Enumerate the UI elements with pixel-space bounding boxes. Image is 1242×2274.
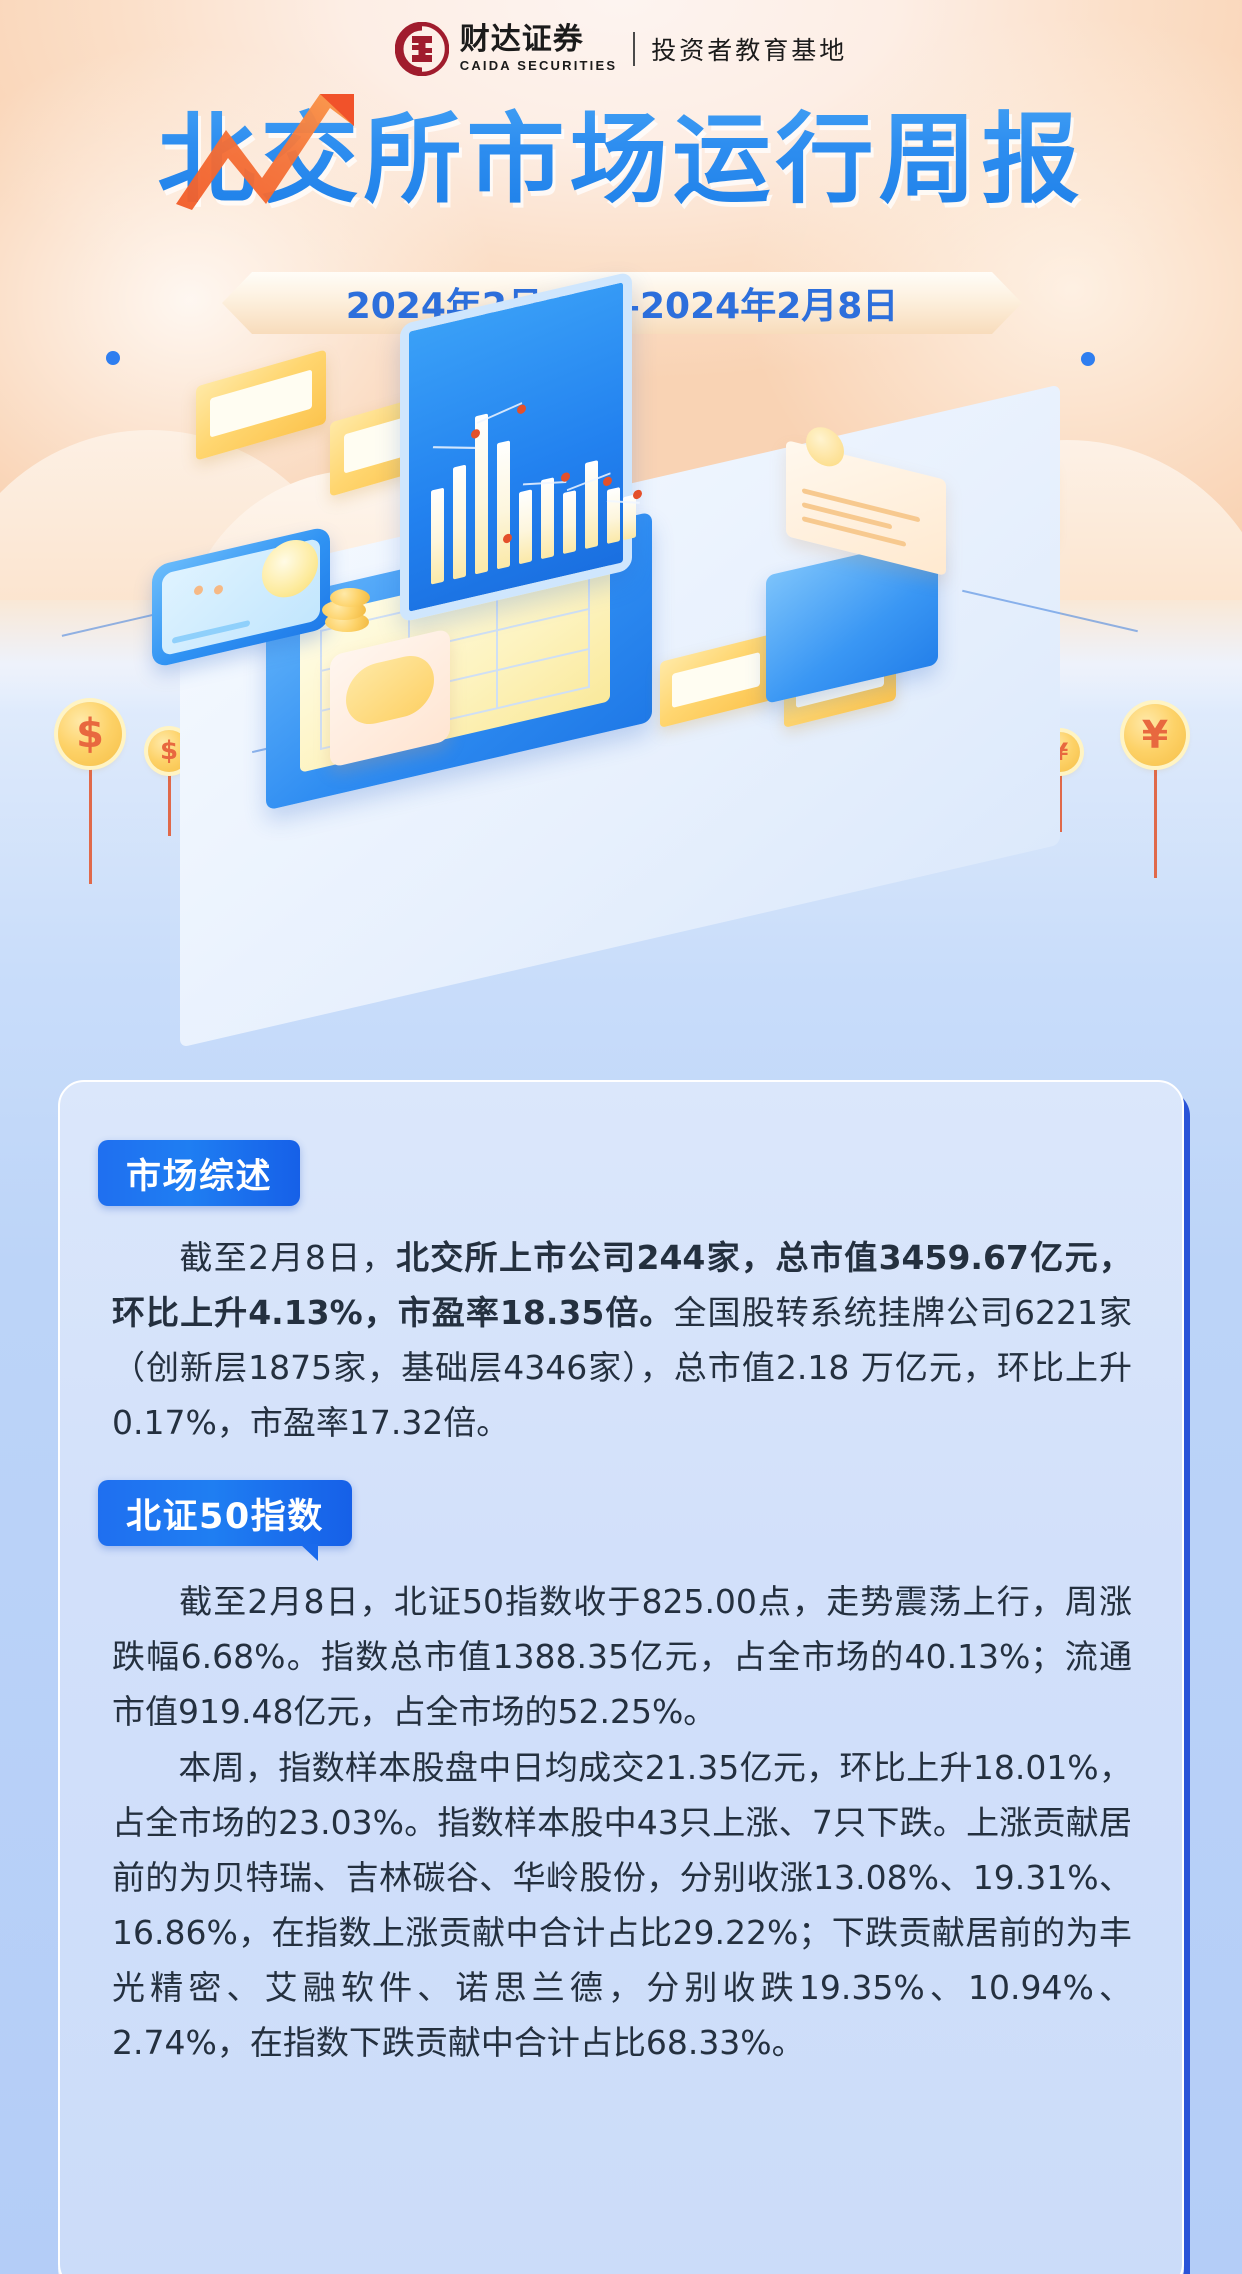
brand-text-block: 财达证券 CAIDA SECURITIES [460,24,618,74]
coin-stem [1154,766,1157,878]
paragraph-bse50-overview: 截至2月8日，北证50指数收于825.00点，走势震荡上行，周涨跌幅6.68%。… [112,1574,1132,1739]
page-title: 北交所市场运行周报 [157,80,1084,222]
chart-bar [497,440,510,569]
chart-point [603,476,612,487]
report-page: 财达证券 CAIDA SECURITIES 投资者教育基地 北交所市场运行周报 … [0,0,1242,2274]
brand-name-cn: 财达证券 [460,24,584,56]
hero-illustration: $ $ ¥ ¥ [0,360,1242,1050]
chart-point [517,404,526,415]
brand-subtitle: 投资者教育基地 [651,31,847,67]
chart-bar [431,488,444,585]
chart-line-segment [433,446,476,449]
main-title-wrap: 北交所市场运行周报 [0,96,1242,206]
content-card: 市场综述 截至2月8日，北交所上市公司244家，总市值3459.67亿元，环比上… [58,1080,1184,2274]
paragraph-market-overview: 截至2月8日，北交所上市公司244家，总市值3459.67亿元，环比上升4.13… [112,1230,1132,1450]
section-badge-market-overview: 市场综述 [98,1140,300,1206]
yuan-coin-icon: ¥ [1124,704,1186,766]
coin-stem [89,766,92,884]
chart-bar [519,489,532,564]
body-text: 截至2月8日， [178,1238,396,1277]
chart-bar [453,465,466,580]
body-text: 本周，指数样本股盘中日均成交21.35亿元，环比上升18.01%，占全市场的23… [112,1748,1132,2062]
dollar-coin-icon: $ [58,702,122,766]
chart-bar [563,490,576,554]
screen-chart [427,364,609,586]
chart-bar [607,487,620,544]
badge-label: 北证50指数 [126,1488,324,1539]
section-badge-bse50-index: 北证50指数 [98,1480,352,1546]
body-text: 截至2月8日，北证50指数收于825.00点，走势震荡上行，周涨跌幅6.68%。… [112,1582,1132,1731]
chart-point [561,472,570,483]
chart-line-segment [477,402,522,424]
caida-circle-logo-icon [395,22,449,76]
badge-label: 市场综述 [126,1148,272,1199]
chart-bar [585,460,598,549]
coin-stem [168,772,171,836]
laptop-screen-chart [400,271,632,623]
gold-card [196,349,326,460]
brand-name-en: CAIDA SECURITIES [460,58,618,74]
paragraph-bse50-weekly: 本周，指数样本股盘中日均成交21.35亿元，环比上升18.01%，占全市场的23… [112,1740,1132,2070]
coin-stack [330,588,370,607]
brand-divider [633,32,635,66]
chart-point [503,533,512,544]
brand-header: 财达证券 CAIDA SECURITIES 投资者教育基地 [0,16,1242,82]
chart-bar [541,477,554,559]
